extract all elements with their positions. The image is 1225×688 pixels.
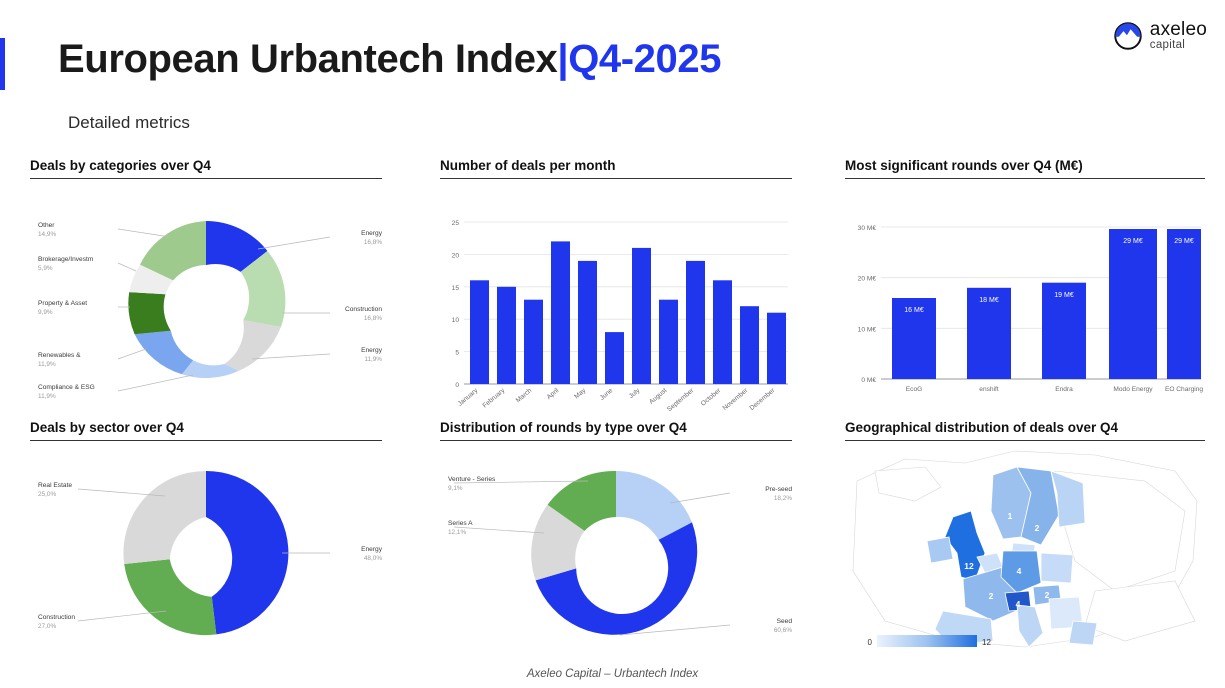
xtick-july: July <box>628 387 642 400</box>
xtick-enshift: enshift <box>979 386 999 393</box>
panel-title-significant-rounds: Most significant rounds over Q4 (M€) <box>845 158 1205 179</box>
xtick-october: October <box>700 387 723 408</box>
label-brokerage-investment: Brokerage/Investm <box>38 256 94 263</box>
ytick-10: 10 <box>452 317 460 324</box>
legend-min: 0 <box>868 638 873 647</box>
value-property-asset: 9,9% <box>38 309 53 316</box>
value-venture-series: 9,1% <box>448 485 463 492</box>
logo-name: axeleo <box>1150 20 1207 39</box>
label-energy-2: Energy <box>361 347 383 354</box>
label-venture-series: Venture - Series <box>448 476 496 483</box>
chart-deals-per-month: 25 20 15 10 5 0 <box>440 179 792 409</box>
chart-significant-rounds: 30 M€ 20 M€ 10 M€ 0 M€ 16 M€ 18 M€ 19 M€… <box>845 179 1205 409</box>
map-value-sweden: 2 <box>1035 523 1040 533</box>
bar-february <box>497 287 516 384</box>
value-construction: 16,8% <box>364 315 382 322</box>
value-modo-energy: 29 M€ <box>1123 238 1143 245</box>
bar-november <box>740 306 759 384</box>
label-construction: Construction <box>38 614 75 621</box>
value-energy-2: 11,9% <box>364 356 382 363</box>
bar-september <box>686 261 705 384</box>
value-renewables: 11,9% <box>38 361 56 368</box>
panel-deals-by-sector: Deals by sector over Q4 Energy 48,0% Con… <box>30 420 382 663</box>
xtick-modo-energy: Modo Energy <box>1113 386 1153 393</box>
xtick-ecog: EcoG <box>906 386 923 393</box>
panel-title-rounds-by-type: Distribution of rounds by type over Q4 <box>440 420 792 441</box>
label-pre-seed: Pre-seed <box>765 486 792 493</box>
xtick-november: November <box>721 387 749 412</box>
ytick-0me: 0 M€ <box>861 377 876 384</box>
bar-january <box>470 280 489 384</box>
label-energy: Energy <box>361 230 383 237</box>
value-real-estate: 25,0% <box>38 491 56 498</box>
xtick-december: December <box>748 387 776 412</box>
bar-june <box>605 332 624 384</box>
bar-july <box>632 248 651 384</box>
value-pre-seed: 18,2% <box>774 495 792 502</box>
map-legend: 0 12 <box>868 635 992 647</box>
xtick-march: March <box>515 387 534 404</box>
page-title-main: European Urbantech Index <box>58 37 557 81</box>
axeleo-logo: axeleo capital <box>1113 20 1207 52</box>
slice-energy-2 <box>224 320 281 371</box>
xtick-february: February <box>482 387 507 410</box>
donut-round-type: Pre-seed 18,2% Seed 60,6% Series A 12,1%… <box>448 471 792 635</box>
panel-rounds-by-type: Distribution of rounds by type over Q4 P… <box>440 420 792 663</box>
xtick-august: August <box>648 387 668 406</box>
value-compliance-esg: 11,9% <box>38 393 56 400</box>
panel-deals-per-month: Number of deals per month 25 20 15 10 5 … <box>440 158 792 409</box>
bar-chart-monthly: 25 20 15 10 5 0 <box>452 220 788 413</box>
ytick-20me: 20 M€ <box>858 276 877 283</box>
value-brokerage-investment: 5,9% <box>38 265 53 272</box>
chart-rounds-by-type: Pre-seed 18,2% Seed 60,6% Series A 12,1%… <box>440 441 792 663</box>
panel-deals-by-categories: Deals by categories over Q4 Energy 16 <box>30 158 382 409</box>
bar-october <box>713 280 732 384</box>
bar-modo-energy <box>1109 229 1157 379</box>
logo-subtitle: capital <box>1150 40 1207 52</box>
region-greece <box>1069 621 1097 645</box>
chart-deals-by-sector: Energy 48,0% Construction 27,0% Real Est… <box>30 441 382 663</box>
map-value-switzerland: 4 <box>1016 599 1021 609</box>
label-compliance-esg: Compliance & ESG <box>38 384 95 391</box>
map-value-germany: 4 <box>1017 566 1022 576</box>
bar-march <box>524 300 543 384</box>
panel-title-deals-per-month: Number of deals per month <box>440 158 792 179</box>
label-series-a: Series A <box>448 520 473 527</box>
bar-chart-rounds: 30 M€ 20 M€ 10 M€ 0 M€ 16 M€ 18 M€ 19 M€… <box>858 225 1204 393</box>
page-title-quarter: Q4-2025 <box>568 37 721 81</box>
page-subtitle: Detailed metrics <box>68 113 190 133</box>
panel-significant-rounds: Most significant rounds over Q4 (M€) 30 … <box>845 158 1205 409</box>
legend-max: 12 <box>982 638 991 647</box>
bar-december <box>767 313 786 384</box>
donut-categories: Energy 16,8% Construction 16,8% Energy 1… <box>38 221 383 400</box>
value-seed: 60,6% <box>774 627 792 634</box>
xtick-eo-charging: EO Charging <box>1165 386 1203 393</box>
value-other: 14,9% <box>38 231 56 238</box>
panel-geographical-distribution: Geographical distribution of deals over … <box>845 420 1205 663</box>
panel-title-deals-by-sector: Deals by sector over Q4 <box>30 420 382 441</box>
panel-title-deals-by-categories: Deals by categories over Q4 <box>30 158 382 179</box>
map-value-france: 2 <box>989 591 994 601</box>
slice-property-asset <box>128 292 170 334</box>
value-eo-charging: 29 M€ <box>1174 238 1194 245</box>
page-title-separator: | <box>557 37 568 81</box>
slice-energy <box>206 471 288 634</box>
label-construction: Construction <box>345 306 382 313</box>
label-real-estate: Real Estate <box>38 482 72 489</box>
axeleo-mountain-icon <box>1113 21 1143 51</box>
xtick-may: May <box>573 387 588 401</box>
chart-deals-by-categories: Energy 16,8% Construction 16,8% Energy 1… <box>30 179 382 409</box>
slice-construction <box>124 559 216 635</box>
title-accent-bar <box>0 38 5 90</box>
label-seed: Seed <box>777 618 793 625</box>
bar-eo-charging <box>1167 229 1201 379</box>
ytick-30me: 30 M€ <box>858 225 877 232</box>
map-value-austria: 2 <box>1045 590 1050 600</box>
bar-april <box>551 241 570 384</box>
slice-real-estate <box>123 471 206 564</box>
x-axis-month-labels: January February March April May June Ju… <box>457 387 777 414</box>
map-value-norway: 1 <box>1008 511 1013 521</box>
map-value-united-kingdom: 12 <box>964 561 974 571</box>
slice-renewables <box>135 331 194 375</box>
chart-geographical-distribution: 12 4 4 2 2 2 1 0 12 <box>845 441 1205 663</box>
label-renewables: Renewables & <box>38 352 81 359</box>
value-endra: 19 M€ <box>1054 292 1074 299</box>
value-series-a: 12,1% <box>448 529 466 536</box>
footer-caption: Axeleo Capital – Urbantech Index <box>0 668 1225 680</box>
value-energy: 16,8% <box>364 239 382 246</box>
xtick-endra: Endra <box>1055 386 1073 393</box>
ytick-5: 5 <box>455 350 459 357</box>
value-construction: 27,0% <box>38 623 56 630</box>
label-other: Other <box>38 222 55 229</box>
xtick-january: January <box>457 387 480 408</box>
dashboard-grid: Deals by categories over Q4 Energy 16 <box>30 158 1205 658</box>
europe-map: 12 4 4 2 2 2 1 0 12 <box>853 451 1197 647</box>
donut-sector: Energy 48,0% Construction 27,0% Real Est… <box>38 471 383 635</box>
ytick-15: 15 <box>452 285 460 292</box>
label-property-asset: Property & Asset <box>38 300 87 307</box>
value-ecog: 16 M€ <box>904 307 924 314</box>
ytick-0: 0 <box>455 382 459 389</box>
bar-august <box>659 300 678 384</box>
region-poland <box>1041 553 1073 583</box>
value-energy: 48,0% <box>364 555 382 562</box>
panel-title-geographical-distribution: Geographical distribution of deals over … <box>845 420 1205 441</box>
page-title: European Urbantech Index|Q4-2025 <box>58 37 721 82</box>
ytick-25: 25 <box>452 220 460 227</box>
xtick-june: June <box>599 387 615 402</box>
xtick-september: September <box>666 387 696 414</box>
xtick-april: April <box>546 387 561 401</box>
bar-may <box>578 261 597 384</box>
region-ireland <box>927 537 953 563</box>
ytick-20: 20 <box>452 252 460 259</box>
label-energy: Energy <box>361 546 383 553</box>
ytick-10me: 10 M€ <box>858 326 877 333</box>
value-enshift: 18 M€ <box>979 297 999 304</box>
